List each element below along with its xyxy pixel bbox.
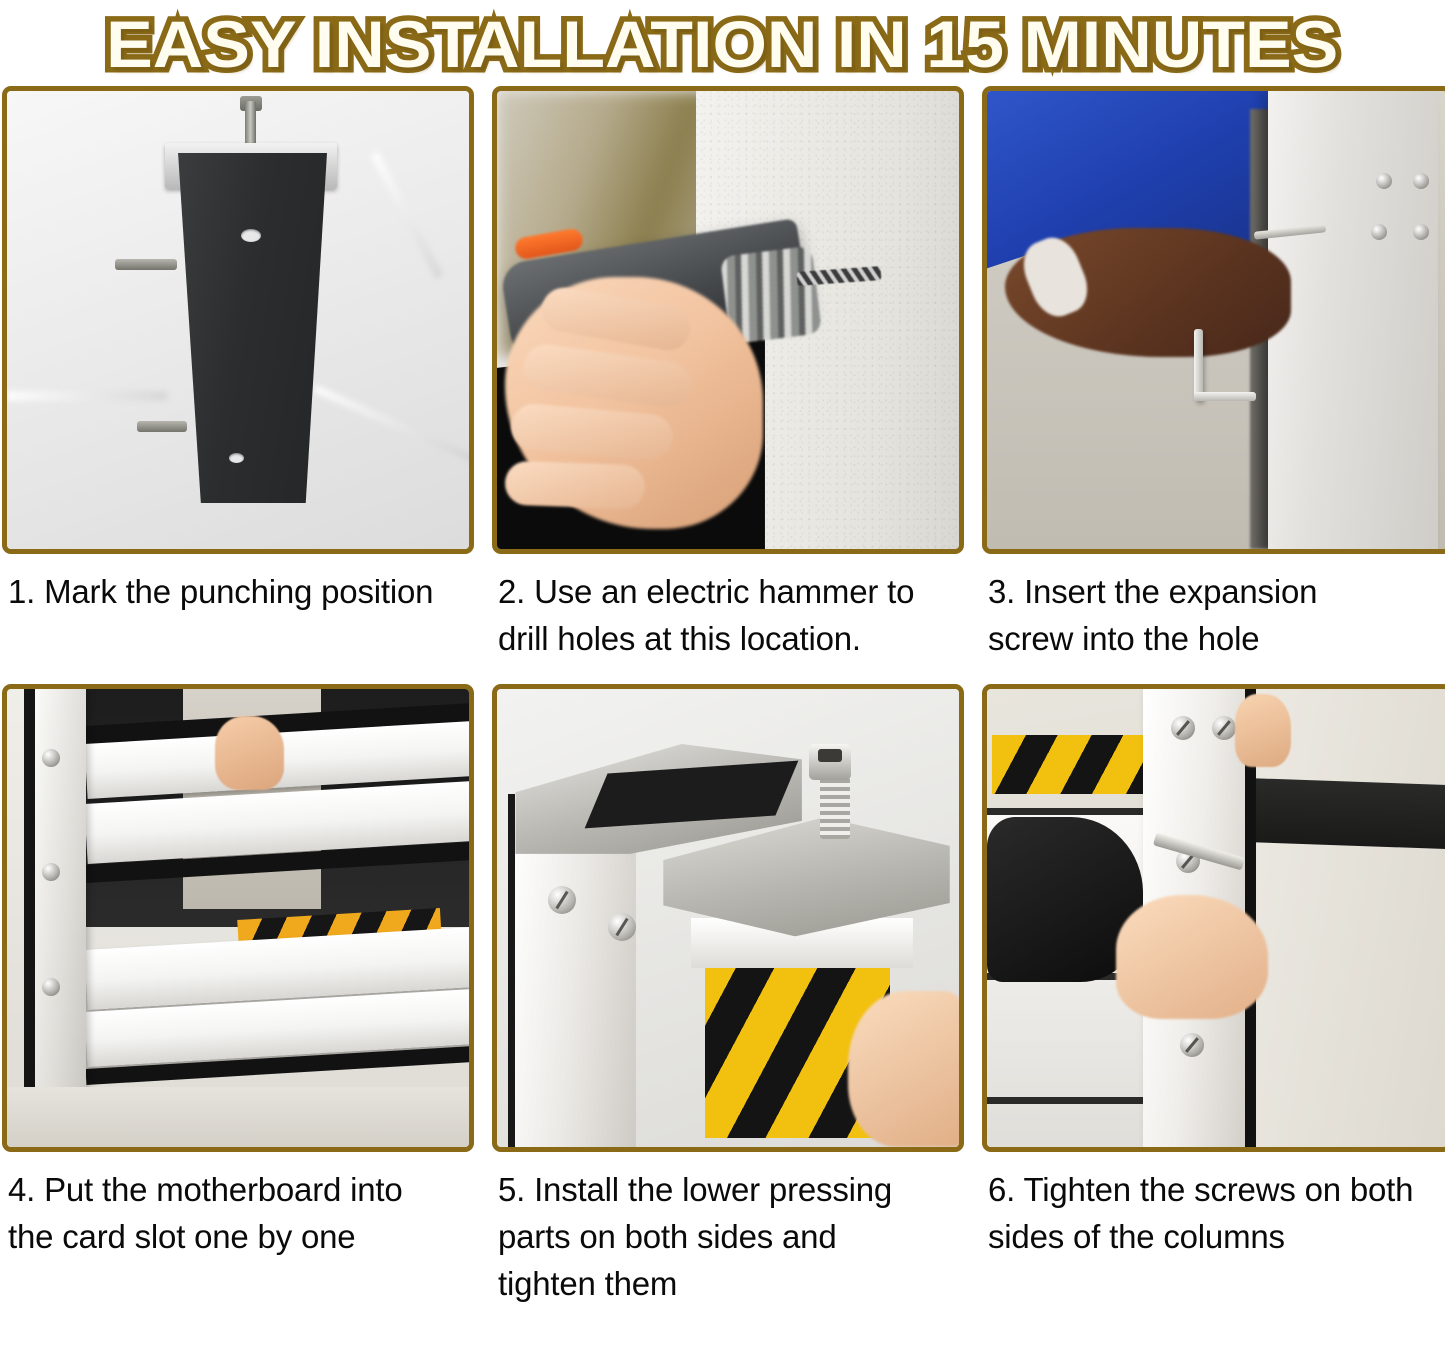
fabric-crease [7, 391, 167, 401]
step-caption-4: 4. Put the motherboard into the card slo… [2, 1166, 474, 1260]
step-card-2: 2. Use an electric hammer to drill holes… [492, 86, 964, 662]
step-image-3 [982, 86, 1445, 554]
column-screw [1371, 224, 1387, 240]
banner: EASY INSTALLATION IN 15 MINUTES [0, 0, 1445, 86]
top-bolt-shaft [245, 101, 256, 149]
column-base-body [175, 153, 327, 503]
post-bolt [42, 978, 60, 996]
installation-guide-page: EASY INSTALLATION IN 15 MINUTES [0, 0, 1445, 1352]
hand-upper [1235, 694, 1290, 767]
page-title: EASY INSTALLATION IN 15 MINUTES [106, 11, 1338, 77]
step-image-6-scene [987, 689, 1445, 1147]
step-image-1 [2, 86, 474, 554]
allen-key [1194, 329, 1203, 401]
step-card-4: 4. Put the motherboard into the card slo… [2, 684, 474, 1307]
baseboard [1225, 777, 1445, 849]
step-image-3-scene [987, 91, 1445, 549]
expansion-stud [115, 259, 177, 270]
step-caption-3: 3. Insert the expansion screw into the h… [982, 568, 1445, 662]
step-card-6: 6. Tighten the screws on both sides of t… [982, 684, 1445, 1307]
bolt-hole [229, 453, 244, 463]
step-image-1-scene [7, 91, 469, 549]
panel-seam [987, 808, 1153, 815]
step-caption-2: 2. Use an electric hammer to drill holes… [492, 568, 964, 662]
floor [7, 1087, 469, 1147]
cross-screw [548, 886, 576, 914]
step-card-5: 5. Install the lower pressing parts on b… [492, 684, 964, 1307]
step-caption-5: 5. Install the lower pressing parts on b… [492, 1166, 964, 1307]
hex-bolt-head [809, 744, 851, 780]
column-screw [1413, 224, 1429, 240]
step-caption-6: 6. Tighten the screws on both sides of t… [982, 1166, 1445, 1260]
white-column [1268, 91, 1438, 549]
hand [848, 991, 959, 1147]
step-image-2-scene [497, 91, 959, 549]
step-image-6 [982, 684, 1445, 1152]
panel-seam [987, 1097, 1153, 1104]
step-image-5 [492, 684, 964, 1152]
hazard-stripe [992, 735, 1148, 795]
bolt-hole [241, 229, 261, 242]
row-spacer [0, 662, 1445, 684]
finger [504, 461, 645, 510]
hand [1116, 895, 1268, 1019]
step-image-4-scene [7, 689, 469, 1147]
post-bolt [42, 749, 60, 767]
column-screw [1413, 173, 1429, 189]
step-card-1: 1. Mark the punching position [2, 86, 474, 662]
cross-screw [1180, 1033, 1204, 1057]
steps-row-2: 4. Put the motherboard into the card slo… [0, 684, 1445, 1307]
step-image-2 [492, 86, 964, 554]
step-card-3: 3. Insert the expansion screw into the h… [982, 86, 1445, 662]
step-caption-1: 1. Mark the punching position [2, 568, 474, 615]
step-image-4 [2, 684, 474, 1152]
steps-row-1: 1. Mark the punching position [0, 86, 1445, 662]
expansion-stud [137, 421, 187, 432]
hand [215, 716, 284, 789]
step-image-5-scene [497, 689, 959, 1147]
